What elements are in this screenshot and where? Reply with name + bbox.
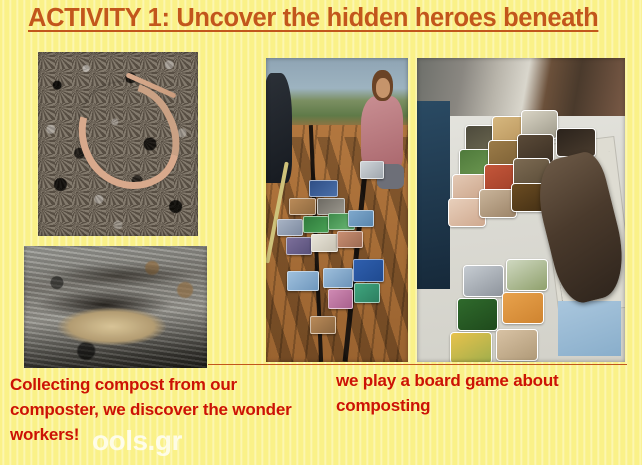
caption-left: Collecting compost from our composter, w… bbox=[10, 372, 310, 447]
photo-card bbox=[496, 329, 538, 361]
caption-right: we play a board game about composting bbox=[336, 368, 626, 418]
deck-card bbox=[286, 237, 312, 254]
deck-card bbox=[337, 231, 363, 248]
person-in-blue bbox=[417, 101, 450, 289]
image-compost-closeup bbox=[24, 246, 207, 368]
deck-card bbox=[277, 219, 303, 236]
deck-card bbox=[348, 210, 374, 227]
decay-texture bbox=[24, 246, 207, 368]
divider-rule bbox=[208, 364, 627, 365]
deck-card bbox=[354, 283, 380, 303]
deck-card bbox=[289, 198, 317, 215]
photo-card bbox=[450, 332, 492, 362]
deck-card bbox=[309, 180, 338, 197]
photo-card bbox=[463, 265, 505, 297]
blue-card-area bbox=[558, 301, 620, 356]
image-children-on-deck bbox=[266, 58, 408, 362]
slide-canvas: ACTIVITY 1: Uncover the hidden heroes be… bbox=[0, 0, 642, 465]
image-board-game-table bbox=[417, 58, 625, 362]
image-worm-in-soil bbox=[38, 52, 198, 236]
photo-card bbox=[506, 259, 548, 291]
child-torso bbox=[361, 96, 403, 171]
photo-card bbox=[457, 298, 499, 330]
deck-card bbox=[328, 289, 353, 309]
deck-card bbox=[353, 259, 385, 282]
page-title: ACTIVITY 1: Uncover the hidden heroes be… bbox=[28, 3, 633, 34]
photo-card bbox=[502, 292, 544, 324]
deck-card bbox=[287, 271, 319, 291]
deck-card bbox=[310, 316, 336, 333]
deck-card bbox=[360, 161, 385, 178]
deck-card bbox=[323, 268, 353, 288]
child-face bbox=[376, 78, 391, 97]
deck-card bbox=[303, 216, 329, 233]
deck-card bbox=[311, 234, 337, 251]
